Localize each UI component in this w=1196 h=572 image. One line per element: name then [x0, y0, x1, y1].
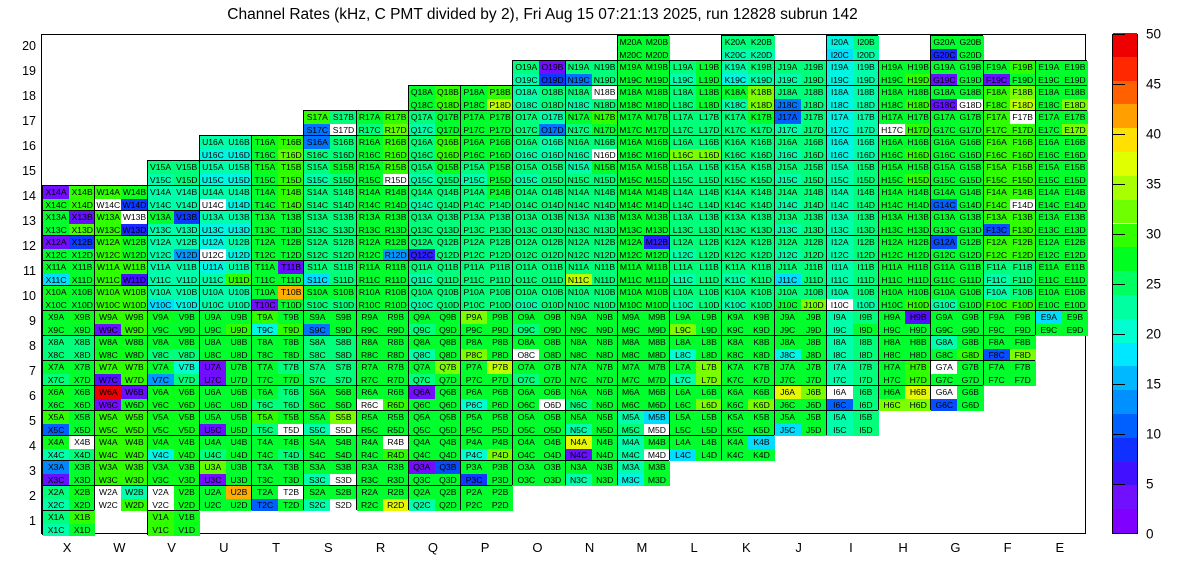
channel-cell: F11B [1010, 261, 1036, 274]
channel-cell: T9A [252, 311, 278, 324]
channel-cell: W3B [121, 461, 147, 474]
channel-cell: S8B [330, 336, 356, 349]
channel-cell: Q10A [409, 286, 435, 299]
channel-cell: X5B [69, 411, 95, 424]
channel-cell: N4B [592, 436, 618, 449]
channel-cell: M9B [644, 311, 670, 324]
grid-cell: G16AG16BG16CG16D [930, 135, 982, 160]
channel-cell: U2C [200, 499, 226, 512]
channel-cell: K10B [748, 286, 774, 299]
channel-cell: M11B [644, 261, 670, 274]
grid-cell: U2AU2BU2CU2D [199, 485, 251, 510]
channel-cell: M16A [618, 136, 644, 149]
channel-cell: G13B [957, 211, 983, 224]
channel-cell: S3A [304, 461, 330, 474]
channel-cell: T15A [252, 161, 278, 174]
channel-cell: G10B [957, 286, 983, 299]
channel-cell: E19B [1062, 61, 1088, 74]
channel-cell: K5B [748, 411, 774, 424]
grid-cell: M15AM15BM15CM15D [617, 160, 669, 185]
channel-cell: I7B [853, 361, 879, 374]
channel-cell: E11B [1062, 261, 1088, 274]
channel-cell: L15A [670, 161, 696, 174]
channel-cell: X7A [43, 361, 69, 374]
x-axis-tick: H [883, 540, 923, 555]
grid-cell: U9AU9BU9CU9D [199, 310, 251, 335]
grid-cell: Q18AQ18BQ18CQ18D [408, 85, 460, 110]
channel-cell: E9D [1062, 324, 1088, 337]
y-axis-tick: 7 [8, 364, 36, 378]
grid-cell: P5AP5BP5CP5D [460, 410, 512, 435]
channel-cell: Q2D [435, 499, 461, 512]
grid-cell: V7AV7BV7CV7D [147, 360, 199, 385]
channel-cell: S4B [330, 436, 356, 449]
x-axis-tick: M [622, 540, 662, 555]
grid-cell: H6AH6BH6CH6D [878, 385, 930, 410]
grid-cell: M16AM16BM16CM16D [617, 135, 669, 160]
channel-cell: W2B [121, 486, 147, 499]
channel-cell: S4A [304, 436, 330, 449]
channel-cell: R10A [357, 286, 383, 299]
channel-cell: E18A [1036, 86, 1062, 99]
y-axis-tick: 9 [8, 314, 36, 328]
channel-cell: I17A [827, 111, 853, 124]
channel-cell: F7A [984, 361, 1010, 374]
channel-cell: K7A [722, 361, 748, 374]
channel-cell: T3A [252, 461, 278, 474]
grid-cell: N3AN3BN3CN3D [565, 460, 617, 485]
grid-cell: X8AX8BX8CX8D [42, 335, 94, 360]
channel-cell: I11A [827, 261, 853, 274]
channel-cell: U13B [226, 211, 252, 224]
channel-cell: J13A [775, 211, 801, 224]
channel-cell: G13A [931, 211, 957, 224]
channel-cell: N16B [592, 136, 618, 149]
grid-cell: E15AE15BE15CE15D [1035, 160, 1087, 185]
channel-cell: G20A [931, 36, 957, 49]
channel-cell: H12B [905, 236, 931, 249]
grid-cell: G9AG9BG9CG9D [930, 310, 982, 335]
channel-cell: N7B [592, 361, 618, 374]
channel-cell: O19B [539, 61, 565, 74]
grid-cell: O9AO9BO9CO9D [512, 310, 564, 335]
channel-cell: E12A [1036, 236, 1062, 249]
channel-cell: T16A [252, 136, 278, 149]
channel-cell: U3A [200, 461, 226, 474]
channel-cell: L15B [696, 161, 722, 174]
channel-cell: H15B [905, 161, 931, 174]
channel-cell: W10A [95, 286, 121, 299]
channel-cell: W14B [121, 186, 147, 199]
grid-cell: X14AX14BX14CX14D [42, 185, 94, 210]
x-axis-tick: G [935, 540, 975, 555]
channel-cell: G17A [931, 111, 957, 124]
channel-cell: K15A [722, 161, 748, 174]
channel-cell: K8A [722, 336, 748, 349]
channel-cell: H11A [879, 261, 905, 274]
channel-cell: O18A [513, 86, 539, 99]
channel-cell: G19B [957, 61, 983, 74]
channel-cell: P17B [487, 111, 513, 124]
channel-cell: U2D [226, 499, 252, 512]
channel-cell: M12A [618, 236, 644, 249]
grid-cell: R8AR8BR8CR8D [356, 335, 408, 360]
grid-cell: U12AU12BU12CU12D [199, 235, 251, 260]
grid-cell: L7AL7BL7CL7D [669, 360, 721, 385]
page-title: Channel Rates (kHz, C PMT divided by 2),… [0, 6, 1085, 24]
grid-cell: H18AH18BH18CH18D [878, 85, 930, 110]
channel-cell: H9B [905, 311, 931, 324]
channel-cell: U13A [200, 211, 226, 224]
grid-cell: L10AL10BL10CL10D [669, 285, 721, 310]
grid-cell: Q11AQ11BQ11CQ11D [408, 260, 460, 285]
channel-cell: V9B [174, 311, 200, 324]
channel-cell: E9C [1036, 324, 1062, 337]
channel-cell: Q13A [409, 211, 435, 224]
channel-cell: P9B [487, 311, 513, 324]
channel-cell: G15A [931, 161, 957, 174]
channel-cell: K12A [722, 236, 748, 249]
channel-cell: N13B [592, 211, 618, 224]
grid-cell: H16AH16BH16CH16D [878, 135, 930, 160]
grid-cell: R17AR17BR17CR17D [356, 110, 408, 135]
channel-cell: P16B [487, 136, 513, 149]
channel-cell: W13A [95, 211, 121, 224]
channel-cell: N3C [566, 474, 592, 487]
grid-cell: W10AW10BW10CW10D [94, 285, 146, 310]
channel-cell: N5A [566, 411, 592, 424]
channel-cell: O10B [539, 286, 565, 299]
channel-cell: S7B [330, 361, 356, 374]
grid-cell: J11AJ11BJ11CJ11D [774, 260, 826, 285]
channel-cell: L16B [696, 136, 722, 149]
channel-cell: L11B [696, 261, 722, 274]
channel-cell: F7C [984, 374, 1010, 387]
grid-cell: P9AP9BP9CP9D [460, 310, 512, 335]
channel-cell: J14B [801, 186, 827, 199]
channel-cell: V15B [174, 161, 200, 174]
channel-cell: S16B [330, 136, 356, 149]
channel-cell: I15B [853, 161, 879, 174]
grid-cell: X13AX13BX13CX13D [42, 210, 94, 235]
channel-cell: R8A [357, 336, 383, 349]
grid-cell: X11AX11BX11CX11D [42, 260, 94, 285]
channel-cell: M9A [618, 311, 644, 324]
channel-cell: O3C [513, 474, 539, 487]
channel-cell: V4B [174, 436, 200, 449]
channel-cell: G6D [957, 399, 983, 412]
grid-cell: O7AO7BO7CO7D [512, 360, 564, 385]
channel-cell: T11B [278, 261, 304, 274]
grid-cell: P15AP15BP15CP15D [460, 160, 512, 185]
grid-cell: H12AH12BH12CH12D [878, 235, 930, 260]
channel-cell: N17B [592, 111, 618, 124]
channel-cell: X12A [43, 236, 69, 249]
channel-cell: W9A [95, 311, 121, 324]
channel-cell: Q8A [409, 336, 435, 349]
channel-cell: S13B [330, 211, 356, 224]
channel-cell: P18B [487, 86, 513, 99]
channel-cell: M6A [618, 386, 644, 399]
channel-cell: R3B [383, 461, 409, 474]
grid-cell: S8AS8BS8CS8D [303, 335, 355, 360]
grid-cell: R6AR6BR6CR6D [356, 385, 408, 410]
channel-cell: Q3A [409, 461, 435, 474]
channel-cell: X8A [43, 336, 69, 349]
channel-cell: G9A [931, 311, 957, 324]
channel-cell: L7B [696, 361, 722, 374]
channel-cell: I9A [827, 311, 853, 324]
channel-cell: G18B [957, 86, 983, 99]
grid-cell: S13AS13BS13CS13D [303, 210, 355, 235]
grid-cell: M14AM14BM14CM14D [617, 185, 669, 210]
channel-cell: R11B [383, 261, 409, 274]
channel-cell: V11A [148, 261, 174, 274]
grid-cell: W7AW7BW7CW7D [94, 360, 146, 385]
channel-cell: J6A [775, 386, 801, 399]
channel-cell: G18A [931, 86, 957, 99]
channel-cell: N19A [566, 61, 592, 74]
grid-cell: J15AJ15BJ15CJ15D [774, 160, 826, 185]
channel-cell: V5A [148, 411, 174, 424]
grid-cell: J8AJ8BJ8CJ8D [774, 335, 826, 360]
channel-cell: I10A [827, 286, 853, 299]
channel-cell: K18B [748, 86, 774, 99]
grid-cell: I18AI18BI18CI18D [826, 85, 878, 110]
grid-cell: Q8AQ8BQ8CQ8D [408, 335, 460, 360]
channel-cell: K6A [722, 386, 748, 399]
channel-cell: X6A [43, 386, 69, 399]
channel-cell: L16A [670, 136, 696, 149]
channel-cell: U12A [200, 236, 226, 249]
channel-cell: I18B [853, 86, 879, 99]
colorbar-labels: 05101520253035404550 [1112, 34, 1192, 534]
channel-cell: Q11B [435, 261, 461, 274]
channel-cell: Q15A [409, 161, 435, 174]
colorbar-tick-label: 5 [1146, 477, 1154, 492]
channel-cell: M3B [644, 461, 670, 474]
channel-cell: J15B [801, 161, 827, 174]
grid-cell: R12AR12BR12CR12D [356, 235, 408, 260]
channel-cell: G12B [957, 236, 983, 249]
channel-cell: L4B [696, 436, 722, 449]
grid-cell: S5AS5BS5CS5D [303, 410, 355, 435]
channel-cell: G9B [957, 311, 983, 324]
channel-cell: I7A [827, 361, 853, 374]
channel-cell: N12B [592, 236, 618, 249]
grid-cell: R10AR10BR10CR10D [356, 285, 408, 310]
grid-cell: L16AL16BL16CL16D [669, 135, 721, 160]
grid-cell: V1AV1BV1CV1D [147, 510, 199, 535]
grid-cell: I13AI13BI13CI13D [826, 210, 878, 235]
channel-cell: K13A [722, 211, 748, 224]
grid-cell: K6AK6BK6CK6D [721, 385, 773, 410]
grid-cell: N16AN16BN16CN16D [565, 135, 617, 160]
channel-cell: T16B [278, 136, 304, 149]
grid-cell: R14AR14BR14CR14D [356, 185, 408, 210]
y-axis-tick: 4 [8, 439, 36, 453]
grid-cell: I17AI17BI17CI17D [826, 110, 878, 135]
grid-cell: Q5AQ5BQ5CQ5D [408, 410, 460, 435]
grid-cell: G19AG19BG19CG19D [930, 60, 982, 85]
grid-cell: L12AL12BL12CL12D [669, 235, 721, 260]
channel-cell: H18B [905, 86, 931, 99]
channel-cell: M17B [644, 111, 670, 124]
colorbar-tick-label: 50 [1146, 27, 1161, 42]
grid-cell: F11AF11BF11CF11D [983, 260, 1035, 285]
channel-cell: I19B [853, 61, 879, 74]
grid-cell: Q2AQ2BQ2CQ2D [408, 485, 460, 510]
heatmap-plot-area: X14AX14BX14CX14DX13AX13BX13CX13DX12AX12B… [41, 34, 1086, 534]
channel-cell: P14B [487, 186, 513, 199]
channel-cell: R2A [357, 486, 383, 499]
grid-cell: W9AW9BW9CW9D [94, 310, 146, 335]
channel-cell: X14B [69, 186, 95, 199]
channel-cell: Q17B [435, 111, 461, 124]
grid-cell: O8AO8BO8CO8D [512, 335, 564, 360]
grid-cell: M3AM3BM3CM3D [617, 460, 669, 485]
grid-cell: F16AF16BF16CF16D [983, 135, 1035, 160]
grid-cell: I11AI11BI11CI11D [826, 260, 878, 285]
grid-cell: L14AL14BL14CL14D [669, 185, 721, 210]
channel-cell: F14B [1010, 186, 1036, 199]
y-axis-tick: 18 [8, 89, 36, 103]
channel-cell: O7B [539, 361, 565, 374]
channel-cell: N5B [592, 411, 618, 424]
channel-cell: X13B [69, 211, 95, 224]
channel-cell: S17B [330, 111, 356, 124]
channel-cell: U12B [226, 236, 252, 249]
channel-cell: F8B [1010, 336, 1036, 349]
x-axis-tick: N [570, 540, 610, 555]
channel-cell: S9B [330, 311, 356, 324]
channel-cell: T9B [278, 311, 304, 324]
channel-cell: P2C [461, 499, 487, 512]
channel-cell: U14B [226, 186, 252, 199]
channel-cell: J7A [775, 361, 801, 374]
channel-cell: T15B [278, 161, 304, 174]
grid-cell: F17AF17BF17CF17D [983, 110, 1035, 135]
channel-cell: I11B [853, 261, 879, 274]
grid-cell: J19AJ19BJ19CJ19D [774, 60, 826, 85]
channel-cell: M5B [644, 411, 670, 424]
channel-cell: E9B [1062, 311, 1088, 324]
channel-cell: X2B [69, 486, 95, 499]
channel-cell: R13B [383, 211, 409, 224]
channel-cell: Q18B [435, 86, 461, 99]
channel-cell: N6A [566, 386, 592, 399]
channel-cell: M4A [618, 436, 644, 449]
channel-cell: T10B [278, 286, 304, 299]
grid-cell: V12AV12BV12CV12D [147, 235, 199, 260]
grid-cell: O18AO18BO18CO18D [512, 85, 564, 110]
channel-cell: R14A [357, 186, 383, 199]
channel-cell: U5A [200, 411, 226, 424]
channel-cell: X1A [43, 511, 69, 524]
channel-cell: Q14B [435, 186, 461, 199]
channel-cell: O15B [539, 161, 565, 174]
channel-cell: N9B [592, 311, 618, 324]
channel-cell: L7A [670, 361, 696, 374]
channel-cell: L14A [670, 186, 696, 199]
channel-cell: F10B [1010, 286, 1036, 299]
channel-cell: P10B [487, 286, 513, 299]
grid-cell: O3AO3BO3CO3D [512, 460, 564, 485]
grid-cell: S17AS17BS17CS17D [303, 110, 355, 135]
grid-cell: N17AN17BN17CN17D [565, 110, 617, 135]
channel-cell: K8B [748, 336, 774, 349]
channel-cell: S15A [304, 161, 330, 174]
grid-cell: E14AE14BE14CE14D [1035, 185, 1087, 210]
channel-cell: F17A [984, 111, 1010, 124]
grid-cell: O12AO12BO12CO12D [512, 235, 564, 260]
channel-cell: U11A [200, 261, 226, 274]
channel-cell: G11B [957, 261, 983, 274]
x-axis-tick: T [256, 540, 296, 555]
channel-cell: F11A [984, 261, 1010, 274]
channel-cell: P13B [487, 211, 513, 224]
channel-cell: L17A [670, 111, 696, 124]
channel-cell: V10A [148, 286, 174, 299]
channel-cell: H10A [879, 286, 905, 299]
channel-cell: U14A [200, 186, 226, 199]
channel-cell: Q6B [435, 386, 461, 399]
channel-cell: X8B [69, 336, 95, 349]
grid-cell: G11AG11BG11CG11D [930, 260, 982, 285]
channel-cell: R3A [357, 461, 383, 474]
channel-cell: F13B [1010, 211, 1036, 224]
grid-cell: V6AV6BV6CV6D [147, 385, 199, 410]
channel-cell: O18B [539, 86, 565, 99]
channel-cell: I5D [853, 424, 879, 437]
channel-cell: F19B [1010, 61, 1036, 74]
channel-cell: E9A [1036, 311, 1062, 324]
grid-cell: X9AX9BX9CX9D [42, 310, 94, 335]
grid-cell: K15AK15BK15CK15D [721, 160, 773, 185]
grid-cell: T11AT11BT11CT11D [251, 260, 303, 285]
channel-cell: U9B [226, 311, 252, 324]
channel-cell: V1B [174, 511, 200, 524]
grid-cell: S7AS7BS7CS7D [303, 360, 355, 385]
channel-cell: L10B [696, 286, 722, 299]
grid-cell: J16AJ16BJ16CJ16D [774, 135, 826, 160]
channel-cell: W4B [121, 436, 147, 449]
channel-cell: L13B [696, 211, 722, 224]
channel-cell: X4A [43, 436, 69, 449]
x-axis-tick: L [674, 540, 714, 555]
channel-cell: I14A [827, 186, 853, 199]
channel-cell: G7B [957, 361, 983, 374]
grid-cell: P8AP8BP8CP8D [460, 335, 512, 360]
channel-cell: R17A [357, 111, 383, 124]
channel-cell: O11A [513, 261, 539, 274]
channel-cell: O13A [513, 211, 539, 224]
grid-cell: Q17AQ17BQ17CQ17D [408, 110, 460, 135]
grid-cell: N15AN15BN15CN15D [565, 160, 617, 185]
channel-cell: W2C [95, 499, 121, 512]
channel-cell: M14B [644, 186, 670, 199]
channel-cell: L9B [696, 311, 722, 324]
channel-cell: I8B [853, 336, 879, 349]
grid-cell: J18AJ18BJ18CJ18D [774, 85, 826, 110]
channel-cell: K16B [748, 136, 774, 149]
grid-cell: N11AN11BN11CN11D [565, 260, 617, 285]
channel-cell: W4A [95, 436, 121, 449]
channel-cell: N13A [566, 211, 592, 224]
grid-cell: I20AI20BI20CI20D [826, 35, 878, 60]
grid-cell: K12AK12BK12CK12D [721, 235, 773, 260]
x-axis-tick: S [308, 540, 348, 555]
